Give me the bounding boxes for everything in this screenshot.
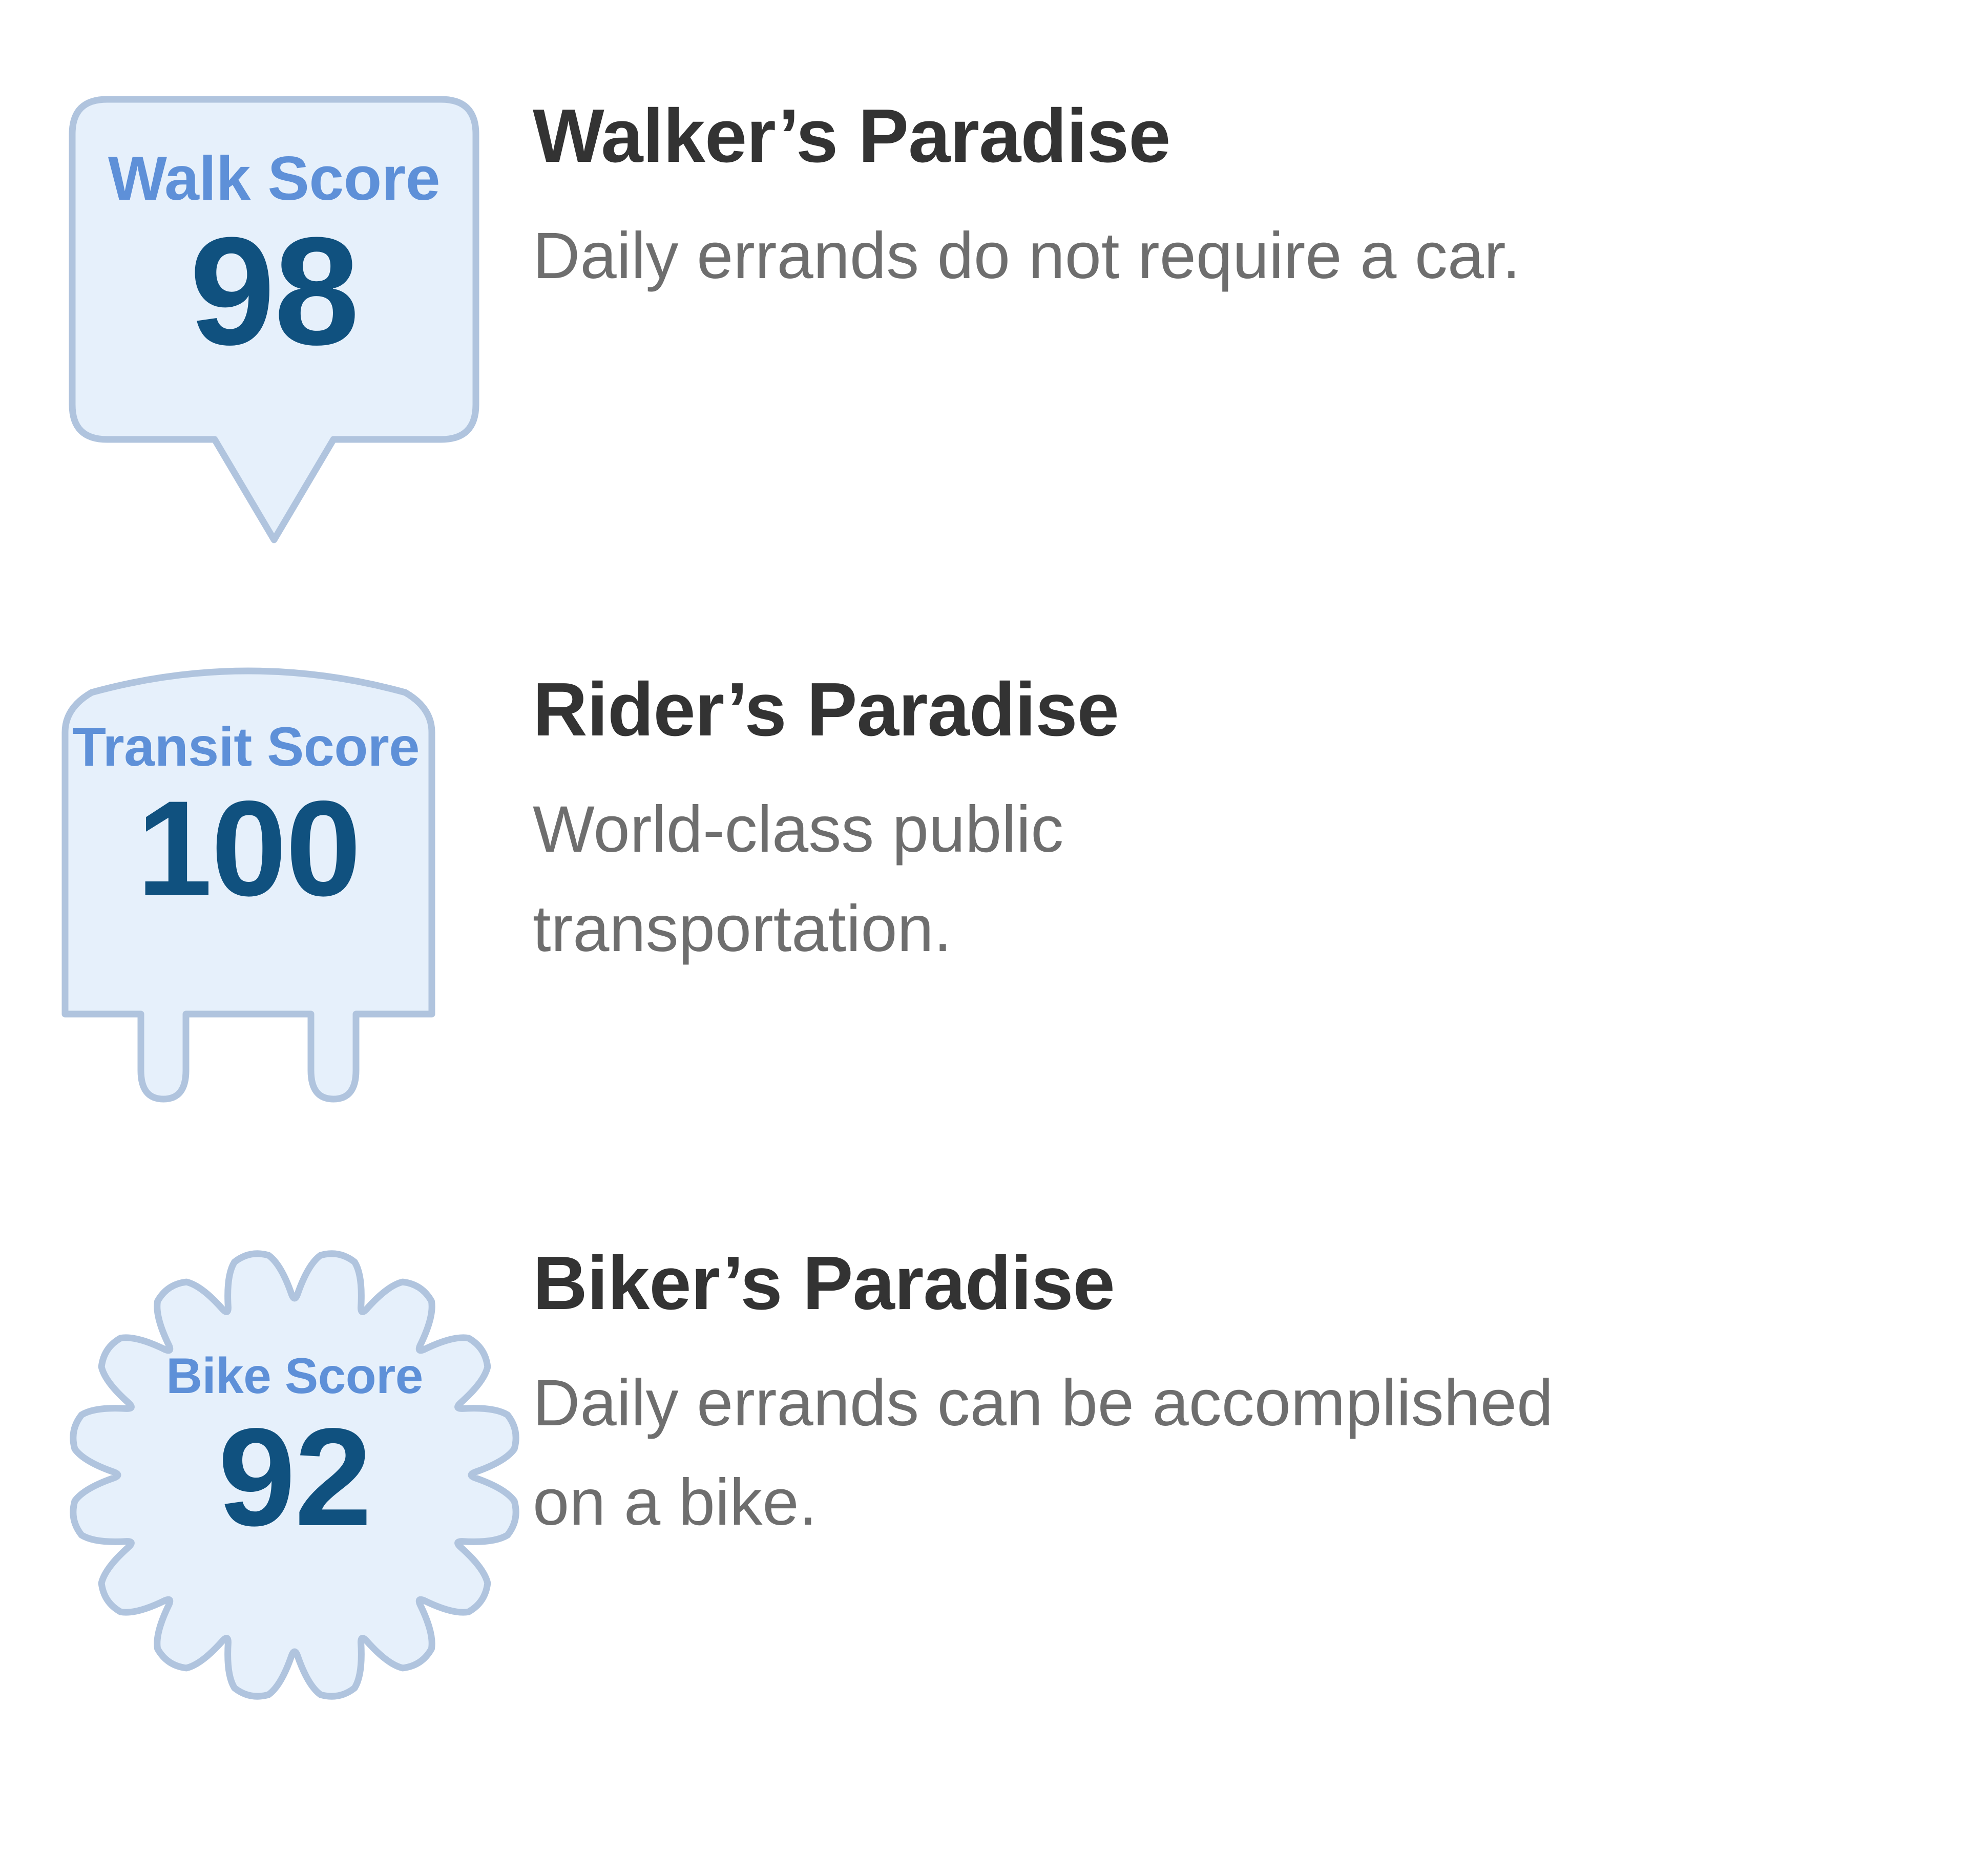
transit-score-title: Rider’s Paradise — [533, 670, 1429, 750]
speech-bubble-pin-icon — [54, 87, 494, 553]
bike-score-title: Biker’s Paradise — [533, 1243, 1608, 1324]
text-column-bike: Biker’s Paradise Daily errands can be ac… — [533, 1234, 1670, 1553]
score-row-walk: Walk Score 98 Walker’s Paradise Daily er… — [0, 87, 1967, 661]
walk-score-widget: Walk Score 98 Walker’s Paradise Daily er… — [0, 0, 1967, 1876]
bike-score-description: Daily errands can be accomplished on a b… — [533, 1354, 1608, 1553]
bus-icon — [54, 661, 443, 1116]
gear-icon — [54, 1234, 535, 1716]
text-column-transit: Rider’s Paradise World-class public tran… — [533, 661, 1491, 979]
badge-column-transit: Transit Score 100 — [0, 661, 533, 1116]
text-column-walk: Walker’s Paradise Daily errands do not r… — [533, 87, 1582, 306]
badge-column-bike: Bike Score 92 — [0, 1234, 533, 1716]
badge-column-walk: Walk Score 98 — [0, 87, 533, 553]
walk-score-badge[interactable]: Walk Score 98 — [54, 87, 494, 553]
bike-score-badge[interactable]: Bike Score 92 — [54, 1234, 535, 1716]
score-row-transit: Transit Score 100 Rider’s Paradise World… — [0, 661, 1967, 1234]
walk-score-title: Walker’s Paradise — [533, 96, 1520, 177]
walk-score-description: Daily errands do not require a car. — [533, 206, 1520, 306]
transit-score-badge[interactable]: Transit Score 100 — [54, 661, 443, 1116]
score-row-bike: Bike Score 92 Biker’s Paradise Daily err… — [0, 1234, 1967, 1808]
transit-score-description: World-class public transportation. — [533, 780, 1429, 979]
